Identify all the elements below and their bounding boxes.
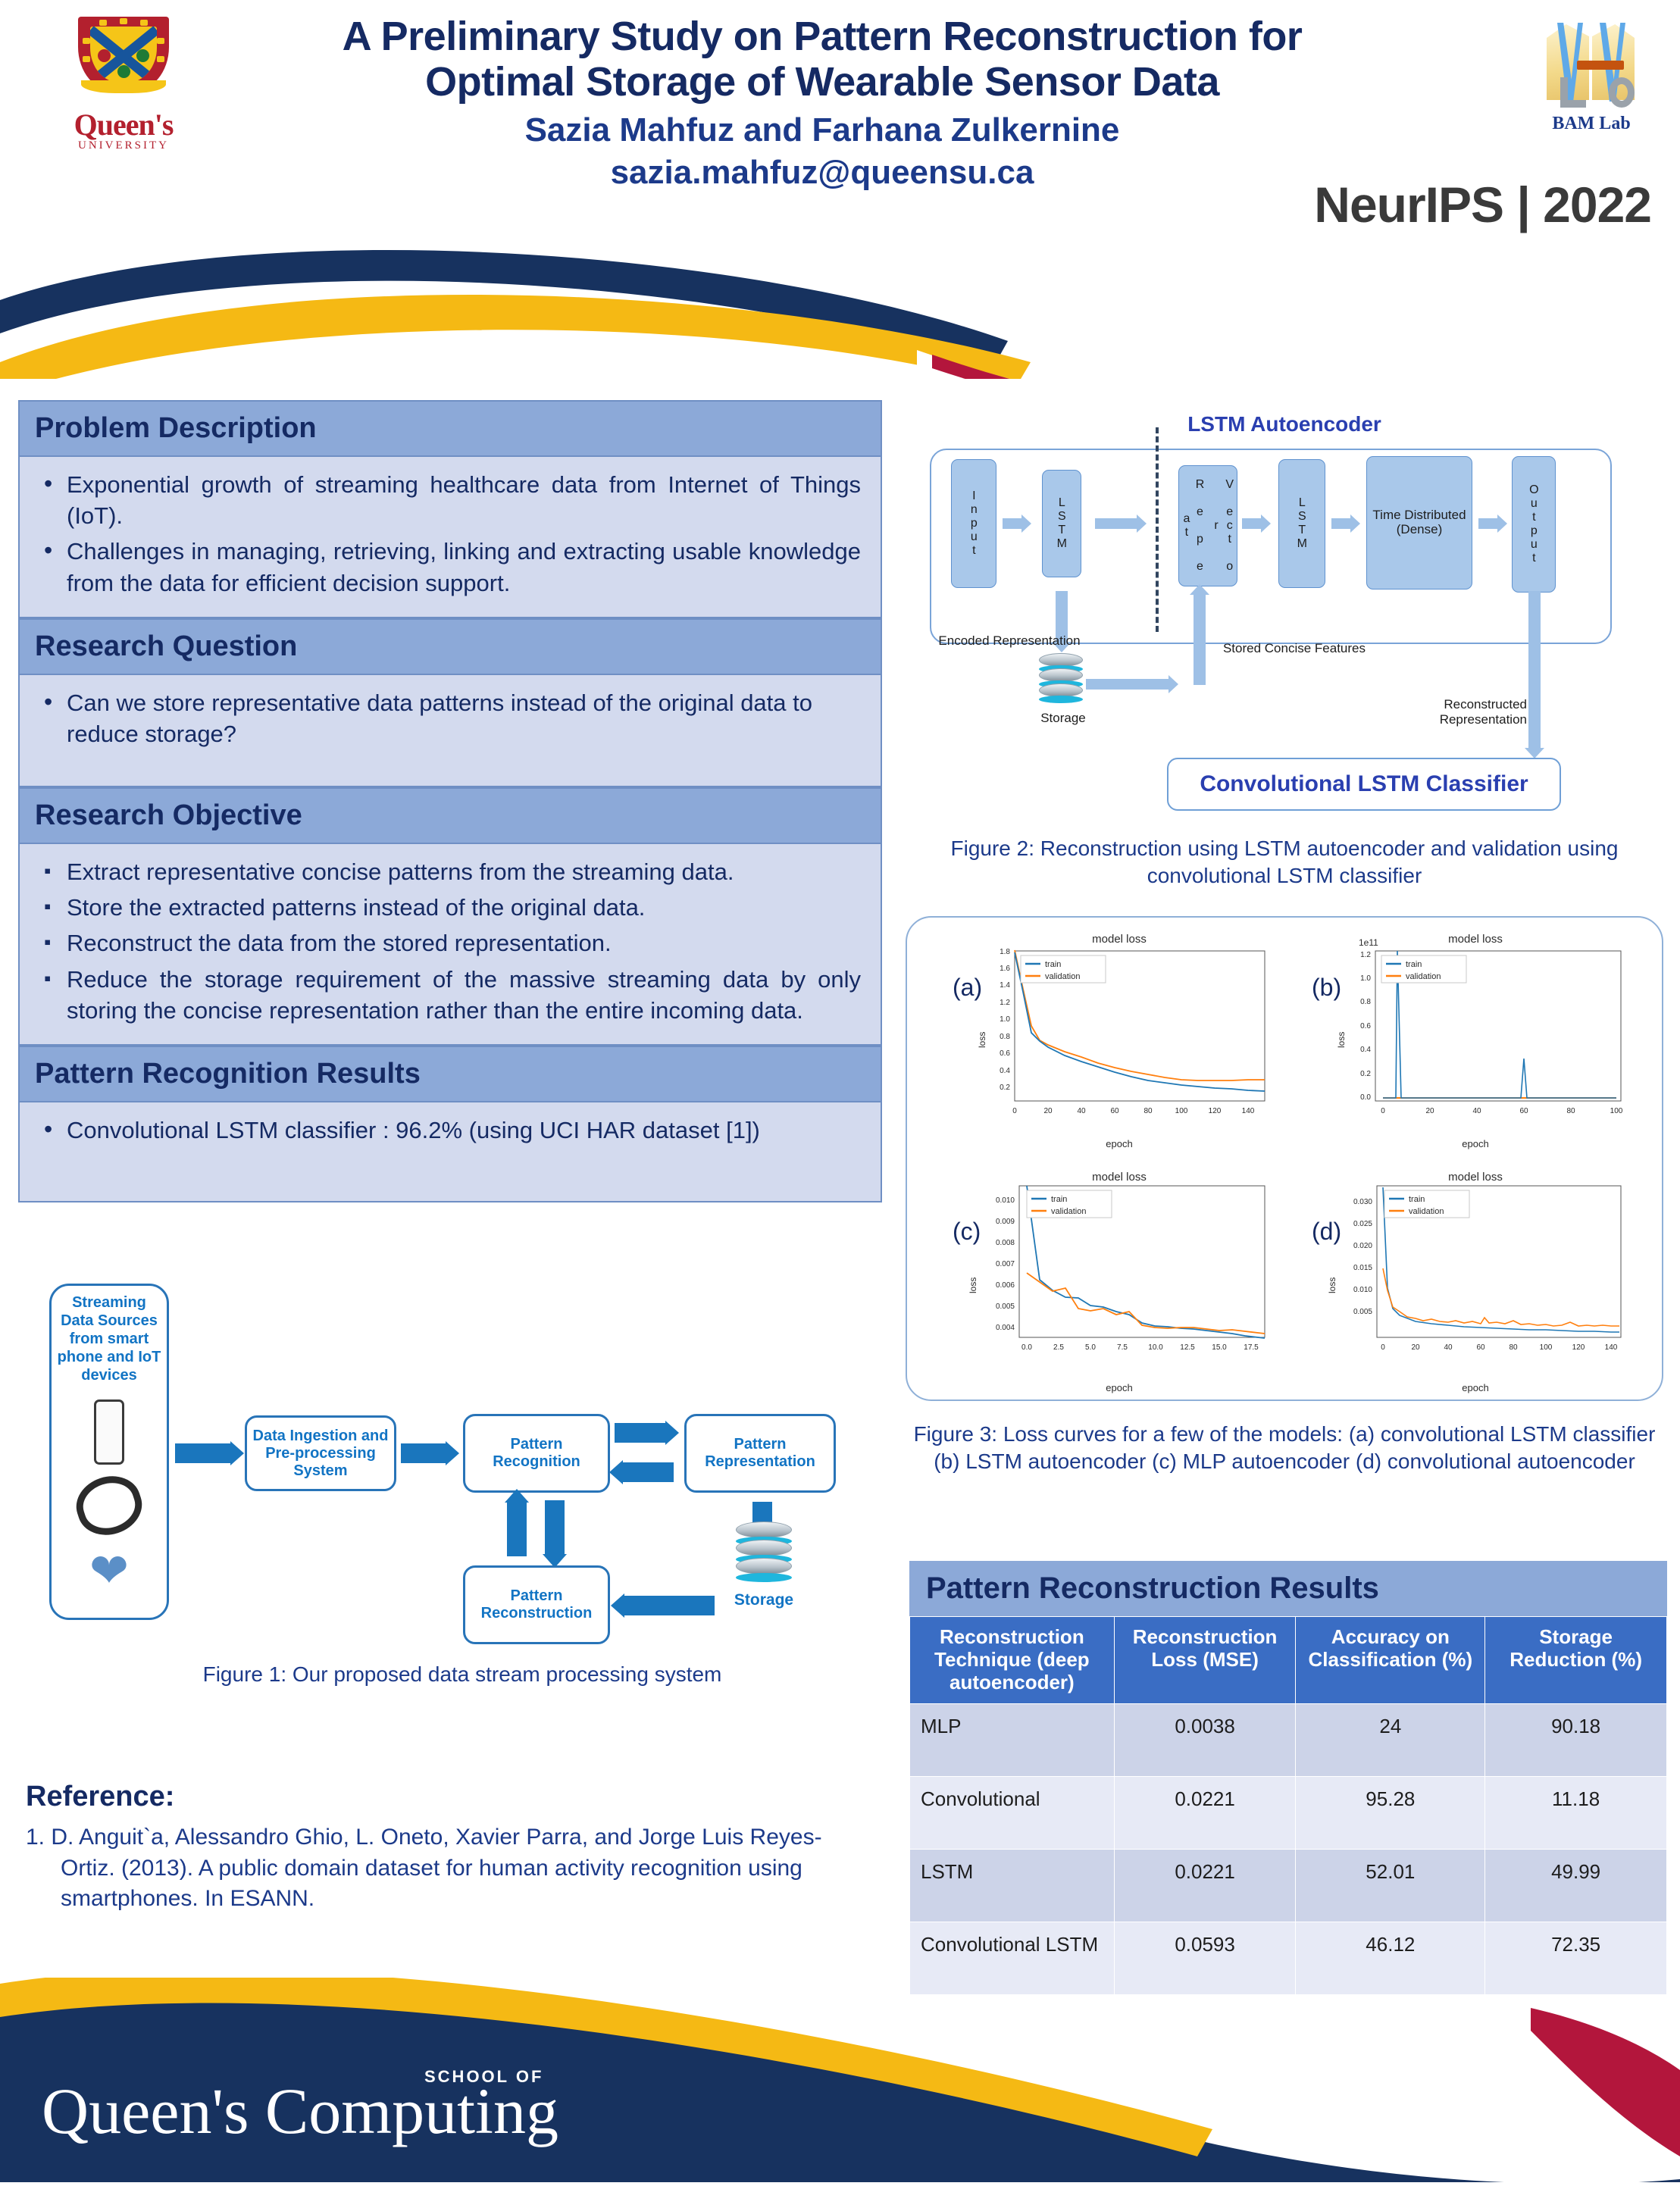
svg-text:0.006: 0.006 (996, 1281, 1015, 1290)
section-heading: Research Objective (18, 787, 882, 844)
storage-database-icon (1039, 653, 1083, 706)
box-pattern-representation: Pattern Representation (684, 1414, 836, 1493)
svg-text:1.2: 1.2 (1000, 999, 1010, 1007)
svg-text:validation: validation (1406, 972, 1441, 981)
svg-text:80: 80 (1566, 1107, 1575, 1115)
section-heading: Pattern Recognition Results (18, 1046, 882, 1102)
label-reconstructed-representation: Reconstructed Representation (1375, 697, 1527, 728)
results-table: Reconstruction Technique (deep autoencod… (909, 1616, 1667, 1995)
svg-text:0: 0 (1381, 1107, 1385, 1115)
autoencoder-frame (930, 449, 1612, 644)
svg-text:train: train (1051, 1195, 1067, 1204)
box-pattern-recognition: Pattern Recognition (463, 1414, 610, 1493)
arrow-output-to-classifier (1528, 591, 1541, 749)
svg-text:1.4: 1.4 (1000, 981, 1010, 990)
arrow-reconstruction-to-recognition (507, 1502, 527, 1556)
svg-text:0.4: 0.4 (1360, 1046, 1371, 1054)
list-item: Challenges in managing, retrieving, link… (39, 536, 861, 598)
cell-time-distributed-dense: Time Distributed (Dense) (1366, 456, 1472, 590)
plot-a-canvas: 1.8 1.6 1.4 1.2 1.0 0.8 0.6 0.4 0.2 0 20… (960, 934, 1278, 1131)
label-encoded-representation: Encoded Representation (937, 633, 1081, 649)
svg-text:0.025: 0.025 (1353, 1220, 1372, 1228)
svg-text:validation: validation (1409, 1207, 1444, 1216)
queens-shield-icon (78, 17, 169, 106)
section-research-question: Research Question Can we store represent… (18, 618, 882, 787)
svg-text:0.005: 0.005 (996, 1303, 1015, 1311)
svg-text:40: 40 (1444, 1343, 1453, 1352)
database-icon (736, 1521, 792, 1587)
arrow-encoder-to-repeat (1095, 518, 1137, 529)
label-storage: Storage (1027, 711, 1100, 726)
svg-text:validation: validation (1045, 972, 1080, 981)
svg-text:140: 140 (1605, 1343, 1618, 1352)
reference-list: 1. D. Anguit`a, Alessandro Ghio, L. Onet… (26, 1822, 874, 1915)
column-header-technique: Reconstruction Technique (deep autoencod… (910, 1617, 1115, 1704)
results-table-title: Pattern Reconstruction Results (909, 1561, 1667, 1616)
svg-text:40: 40 (1077, 1107, 1086, 1115)
arrow-input-to-lstm (1003, 518, 1022, 529)
svg-text:40: 40 (1472, 1107, 1481, 1115)
header-wave-decoration (0, 227, 1680, 379)
queens-university-subtext: UNIVERSITY (67, 139, 180, 152)
cell-input: Input (951, 459, 996, 588)
authors: Sazia Mahfuz and Farhana Zulkernine (205, 111, 1440, 149)
svg-text:0.010: 0.010 (1353, 1286, 1372, 1294)
figure-2-caption: Figure 2: Reconstruction using LSTM auto… (928, 835, 1641, 890)
svg-text:0.6: 0.6 (1000, 1049, 1010, 1058)
svg-text:100: 100 (1610, 1107, 1623, 1115)
bam-lab-icon (1542, 14, 1641, 112)
svg-text:10.0: 10.0 (1148, 1343, 1163, 1352)
cell-storage: 49.99 (1485, 1849, 1667, 1922)
title-line-1: A Preliminary Study on Pattern Reconstru… (205, 14, 1440, 59)
column-header-loss: Reconstruction Loss (MSE) (1114, 1617, 1296, 1704)
svg-text:7.5: 7.5 (1117, 1343, 1128, 1352)
list-item: Exponential growth of streaming healthca… (39, 469, 861, 531)
bam-lab-label: BAM Lab (1519, 114, 1663, 134)
svg-text:0: 0 (1381, 1343, 1385, 1352)
pattern-reconstruction-results-table: Pattern Reconstruction Results Reconstru… (909, 1561, 1667, 1995)
poster-footer: SCHOOL OF Queen's Computing (0, 1978, 1680, 2182)
svg-text:0.030: 0.030 (1353, 1198, 1372, 1206)
bullet-list: Can we store representative data pattern… (39, 687, 861, 749)
reference-section: Reference: 1. D. Anguit`a, Alessandro Gh… (26, 1781, 874, 1915)
svg-text:train: train (1409, 1195, 1425, 1204)
figure-2: LSTM Autoencoder Input LSTM R e p e at V… (906, 409, 1663, 818)
svg-text:train: train (1045, 960, 1061, 969)
figure-3-caption: Figure 3: Loss curves for a few of the m… (906, 1421, 1663, 1476)
section-pattern-recognition-results: Pattern Recognition Results Convolutiona… (18, 1046, 882, 1202)
svg-text:0.4: 0.4 (1000, 1067, 1010, 1075)
svg-text:20: 20 (1043, 1107, 1053, 1115)
svg-text:80: 80 (1509, 1343, 1518, 1352)
svg-text:1.0: 1.0 (1000, 1015, 1010, 1024)
section-heading: Research Question (18, 618, 882, 675)
svg-text:0.004: 0.004 (996, 1324, 1015, 1332)
column-header-accuracy: Accuracy on Classification (%) (1296, 1617, 1485, 1704)
svg-text:0.8: 0.8 (1360, 998, 1371, 1006)
figure-1: Streaming Data Sources from smart phone … (42, 1281, 883, 1688)
plot-d-canvas: 0.030 0.025 0.020 0.015 0.010 0.005 0 20… (1316, 1172, 1635, 1362)
figure-1-caption: Figure 1: Our proposed data stream proce… (42, 1661, 883, 1688)
svg-text:100: 100 (1540, 1343, 1553, 1352)
arrow-storage-to-repeat (1086, 679, 1169, 690)
storage-node: Storage (727, 1521, 800, 1609)
arrow-source-to-ingestion (175, 1443, 231, 1463)
svg-text:0.0: 0.0 (1021, 1343, 1032, 1352)
reference-item: 1. D. Anguit`a, Alessandro Ghio, L. Onet… (26, 1822, 874, 1915)
svg-text:5.0: 5.0 (1085, 1343, 1096, 1352)
svg-text:0.007: 0.007 (996, 1260, 1015, 1268)
heartbeat-icon: ❤ (74, 1553, 144, 1590)
svg-text:60: 60 (1476, 1343, 1485, 1352)
cell-technique: LSTM (910, 1849, 1115, 1922)
cell-technique: MLP (910, 1703, 1115, 1776)
svg-text:0.020: 0.020 (1353, 1242, 1372, 1250)
svg-text:60: 60 (1519, 1107, 1528, 1115)
smartphone-icon (94, 1399, 124, 1465)
box-pattern-reconstruction: Pattern Reconstruction (463, 1565, 610, 1644)
table-row: Convolutional 0.0221 95.28 11.18 (910, 1776, 1667, 1849)
bullet-list: Extract representative concise patterns … (39, 856, 861, 1026)
reference-heading: Reference: (26, 1781, 874, 1813)
svg-text:100: 100 (1175, 1107, 1188, 1115)
table-row: LSTM 0.0221 52.01 49.99 (910, 1849, 1667, 1922)
right-column: LSTM Autoencoder Input LSTM R e p e at V… (906, 409, 1663, 1476)
svg-text:12.5: 12.5 (1180, 1343, 1195, 1352)
list-item: Store the extracted patterns instead of … (39, 892, 861, 923)
source-label: Streaming Data Sources from smart phone … (52, 1286, 167, 1384)
list-item: Convolutional LSTM classifier : 96.2% (u… (39, 1115, 861, 1146)
plot-b-canvas: 1.2 1.0 0.8 0.6 0.4 0.2 0.0 0 20 40 60 8… (1316, 934, 1635, 1131)
cell-repeat-vector: R e p e at V ect o r (1178, 465, 1237, 586)
streaming-data-sources-box: Streaming Data Sources from smart phone … (49, 1284, 169, 1620)
list-item: Extract representative concise patterns … (39, 856, 861, 887)
cell-technique: Convolutional (910, 1776, 1115, 1849)
cell-loss: 0.0038 (1114, 1703, 1296, 1776)
list-item: Reconstruct the data from the stored rep… (39, 927, 861, 959)
svg-text:20: 20 (1425, 1107, 1434, 1115)
cell-output: Output (1512, 456, 1556, 593)
subplot-c: (c) model loss loss epoch 0.010 0.009 0.… (960, 1172, 1278, 1377)
label-stored-concise-features: Stored Concise Features (1222, 641, 1366, 656)
table-row: MLP 0.0038 24 90.18 (910, 1703, 1667, 1776)
fitness-band-icon (69, 1468, 149, 1543)
svg-text:0.009: 0.009 (996, 1218, 1015, 1226)
svg-text:0.2: 0.2 (1360, 1070, 1371, 1078)
section-heading: Problem Description (18, 400, 882, 457)
svg-text:0.0: 0.0 (1360, 1093, 1371, 1102)
svg-text:train: train (1406, 960, 1422, 969)
svg-text:60: 60 (1110, 1107, 1119, 1115)
svg-text:0.010: 0.010 (996, 1196, 1015, 1205)
cell-accuracy: 52.01 (1296, 1849, 1485, 1922)
data-stream-processing-diagram: Streaming Data Sources from smart phone … (42, 1281, 868, 1644)
svg-text:validation: validation (1051, 1207, 1086, 1216)
conference-badge: NeurIPS | 2022 (1314, 176, 1651, 233)
cell-storage: 90.18 (1485, 1703, 1667, 1776)
poster-header: Queen's UNIVERSITY A Preliminary Study o… (0, 0, 1680, 356)
bullet-list: Convolutional LSTM classifier : 96.2% (u… (39, 1115, 861, 1146)
svg-text:20: 20 (1411, 1343, 1420, 1352)
box-data-ingestion: Data Ingestion and Pre-processing System (245, 1415, 396, 1491)
cell-loss: 0.0221 (1114, 1849, 1296, 1922)
convolutional-lstm-classifier-box: Convolutional LSTM Classifier (1167, 758, 1561, 811)
contact-email[interactable]: sazia.mahfuz@queensu.ca (205, 154, 1440, 192)
svg-text:120: 120 (1572, 1343, 1585, 1352)
storage-label: Storage (727, 1591, 800, 1609)
cell-encoder-lstm: LSTM (1042, 470, 1081, 577)
table-header-row: Reconstruction Technique (deep autoencod… (910, 1617, 1667, 1704)
arrow-ingestion-to-recognition (401, 1443, 446, 1463)
svg-text:17.5: 17.5 (1244, 1343, 1259, 1352)
svg-text:15.0: 15.0 (1212, 1343, 1227, 1352)
svg-text:140: 140 (1242, 1107, 1255, 1115)
left-column: Problem Description Exponential growth o… (18, 400, 882, 1202)
plot-c-canvas: 0.010 0.009 0.008 0.007 0.006 0.005 0.00… (960, 1172, 1278, 1362)
title-line-2: Optimal Storage of Wearable Sensor Data (205, 59, 1440, 105)
arrow-recognition-to-reconstruction (545, 1500, 565, 1555)
cell-loss: 0.0221 (1114, 1776, 1296, 1849)
svg-text:0.6: 0.6 (1360, 1022, 1371, 1030)
cell-accuracy: 95.28 (1296, 1776, 1485, 1849)
svg-text:0.015: 0.015 (1353, 1264, 1372, 1272)
section-research-objective: Research Objective Extract representativ… (18, 787, 882, 1046)
arrow-recognition-to-representation (615, 1423, 666, 1443)
arrow-representation-to-recognition (622, 1462, 674, 1482)
list-item: Can we store representative data pattern… (39, 687, 861, 749)
arrow-lstm-to-dense (1331, 518, 1351, 529)
svg-text:0.005: 0.005 (1353, 1308, 1372, 1316)
svg-text:0: 0 (1012, 1107, 1017, 1115)
cell-accuracy: 24 (1296, 1703, 1485, 1776)
bam-lab-logo: BAM Lab (1519, 14, 1663, 134)
subplot-d: (d) model loss loss epoch 0.030 0.025 0.… (1316, 1172, 1635, 1377)
figure-3-loss-curves: (a) model loss loss epoch 1.8 1.6 1.4 1.… (906, 916, 1663, 1401)
list-item: Reduce the storage requirement of the ma… (39, 964, 861, 1026)
bullet-list: Exponential growth of streaming healthca… (39, 469, 861, 599)
queens-university-logo: Queen's UNIVERSITY (67, 17, 180, 161)
lstm-autoencoder-title: LSTM Autoencoder (906, 412, 1663, 436)
svg-text:1.0: 1.0 (1360, 974, 1371, 983)
arrow-features-up (1194, 594, 1206, 685)
svg-text:0.8: 0.8 (1000, 1033, 1010, 1041)
column-header-storage: Storage Reduction (%) (1485, 1617, 1667, 1704)
arrow-repeat-to-lstm (1242, 518, 1262, 529)
section-problem-description: Problem Description Exponential growth o… (18, 400, 882, 618)
arrow-storage-to-reconstruction (624, 1596, 715, 1615)
svg-text:1.2: 1.2 (1360, 951, 1371, 959)
subplot-b: (b) model loss 1e11 loss epoch 1.2 1.0 0… (1316, 934, 1635, 1131)
cell-storage: 11.18 (1485, 1776, 1667, 1849)
svg-text:1.6: 1.6 (1000, 965, 1010, 973)
encoder-decoder-divider (1156, 427, 1159, 632)
svg-text:1.8: 1.8 (1000, 948, 1010, 956)
svg-text:0.2: 0.2 (1000, 1084, 1010, 1092)
queens-computing-wordmark: Queen's Computing (42, 2081, 558, 2143)
page-title: A Preliminary Study on Pattern Reconstru… (205, 14, 1440, 105)
queens-wordmark: Queen's (67, 111, 180, 139)
cell-decoder-lstm: LSTM (1278, 459, 1325, 588)
title-block: A Preliminary Study on Pattern Reconstru… (205, 14, 1440, 192)
svg-text:80: 80 (1143, 1107, 1153, 1115)
svg-text:120: 120 (1209, 1107, 1222, 1115)
svg-text:0.008: 0.008 (996, 1239, 1015, 1247)
arrow-dense-to-output (1478, 518, 1498, 529)
subplot-a: (a) model loss loss epoch 1.8 1.6 1.4 1.… (960, 934, 1278, 1131)
svg-text:2.5: 2.5 (1053, 1343, 1064, 1352)
